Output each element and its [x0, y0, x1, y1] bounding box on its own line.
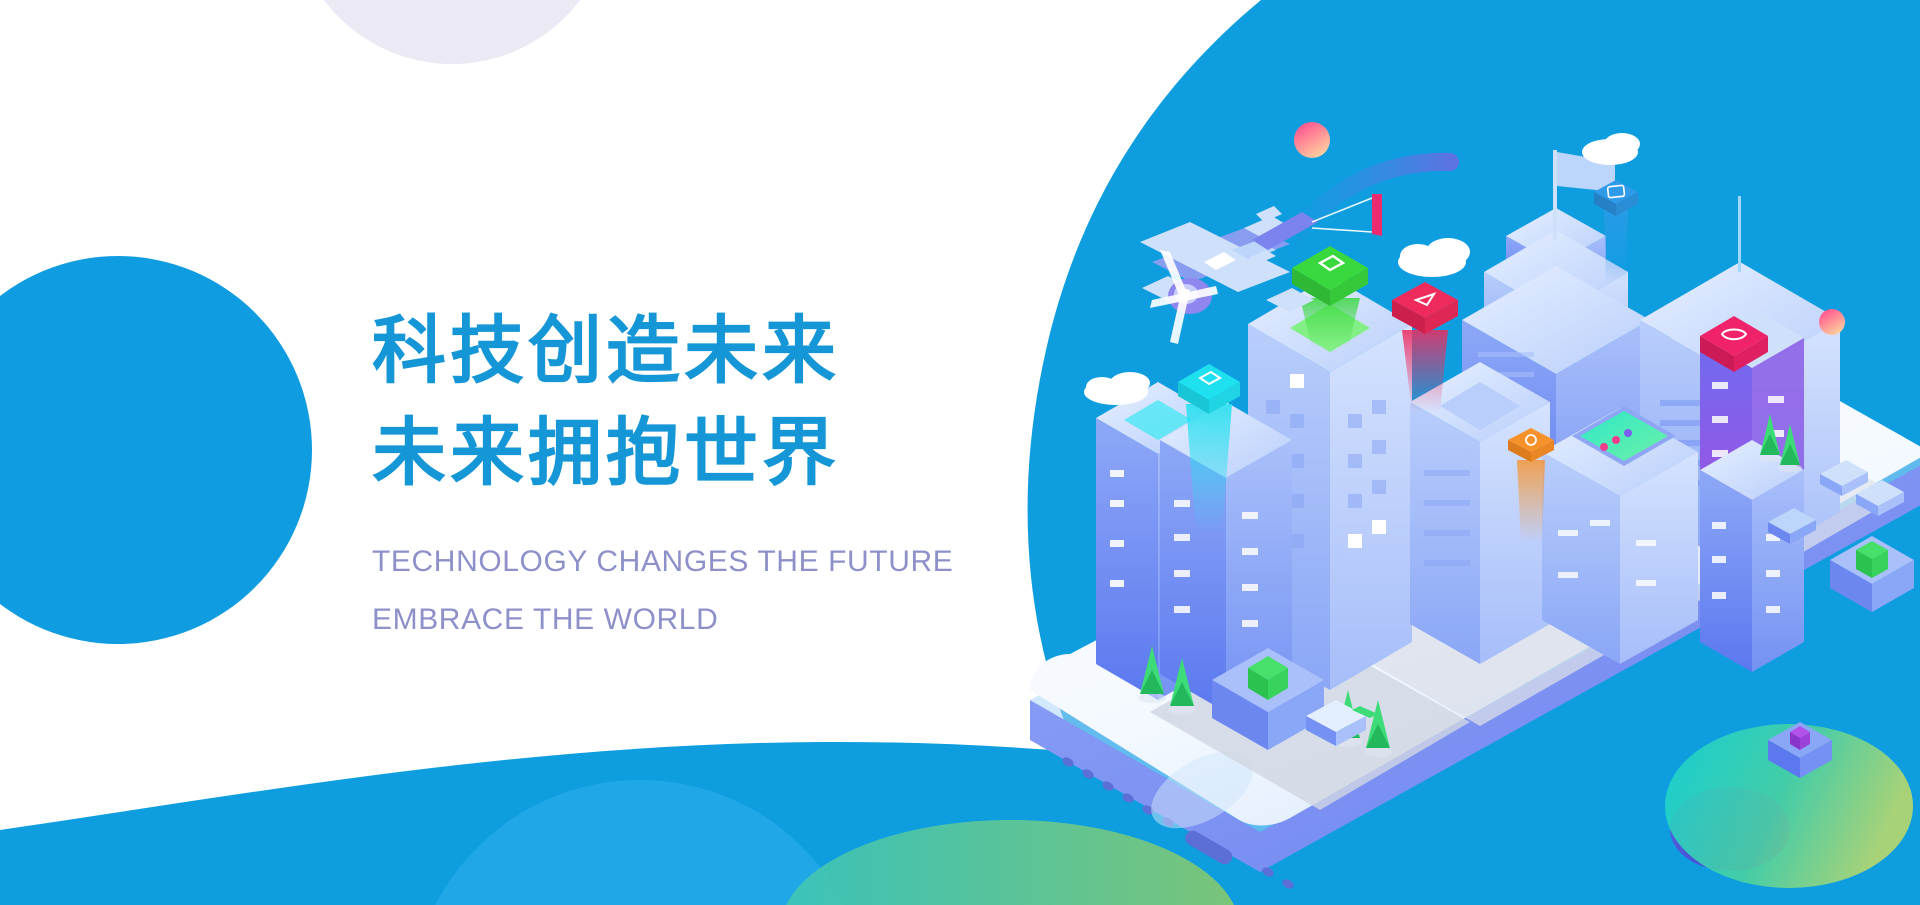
headline-line-1: 科技创造未来 — [372, 300, 1072, 402]
banner-stage: 科技创造未来 未来拥抱世界 TECHNOLOGY CHANGES THE FUT… — [0, 0, 1920, 905]
subtitle-line-2: EMBRACE THE WORLD — [372, 596, 1072, 643]
bottom-right-teal-ellipse — [1665, 724, 1913, 888]
banner-text-block: 科技创造未来 未来拥抱世界 TECHNOLOGY CHANGES THE FUT… — [372, 300, 1072, 643]
headline-line-2: 未来拥抱世界 — [372, 402, 1072, 504]
subtitle-line-1: TECHNOLOGY CHANGES THE FUTURE — [372, 538, 1072, 585]
